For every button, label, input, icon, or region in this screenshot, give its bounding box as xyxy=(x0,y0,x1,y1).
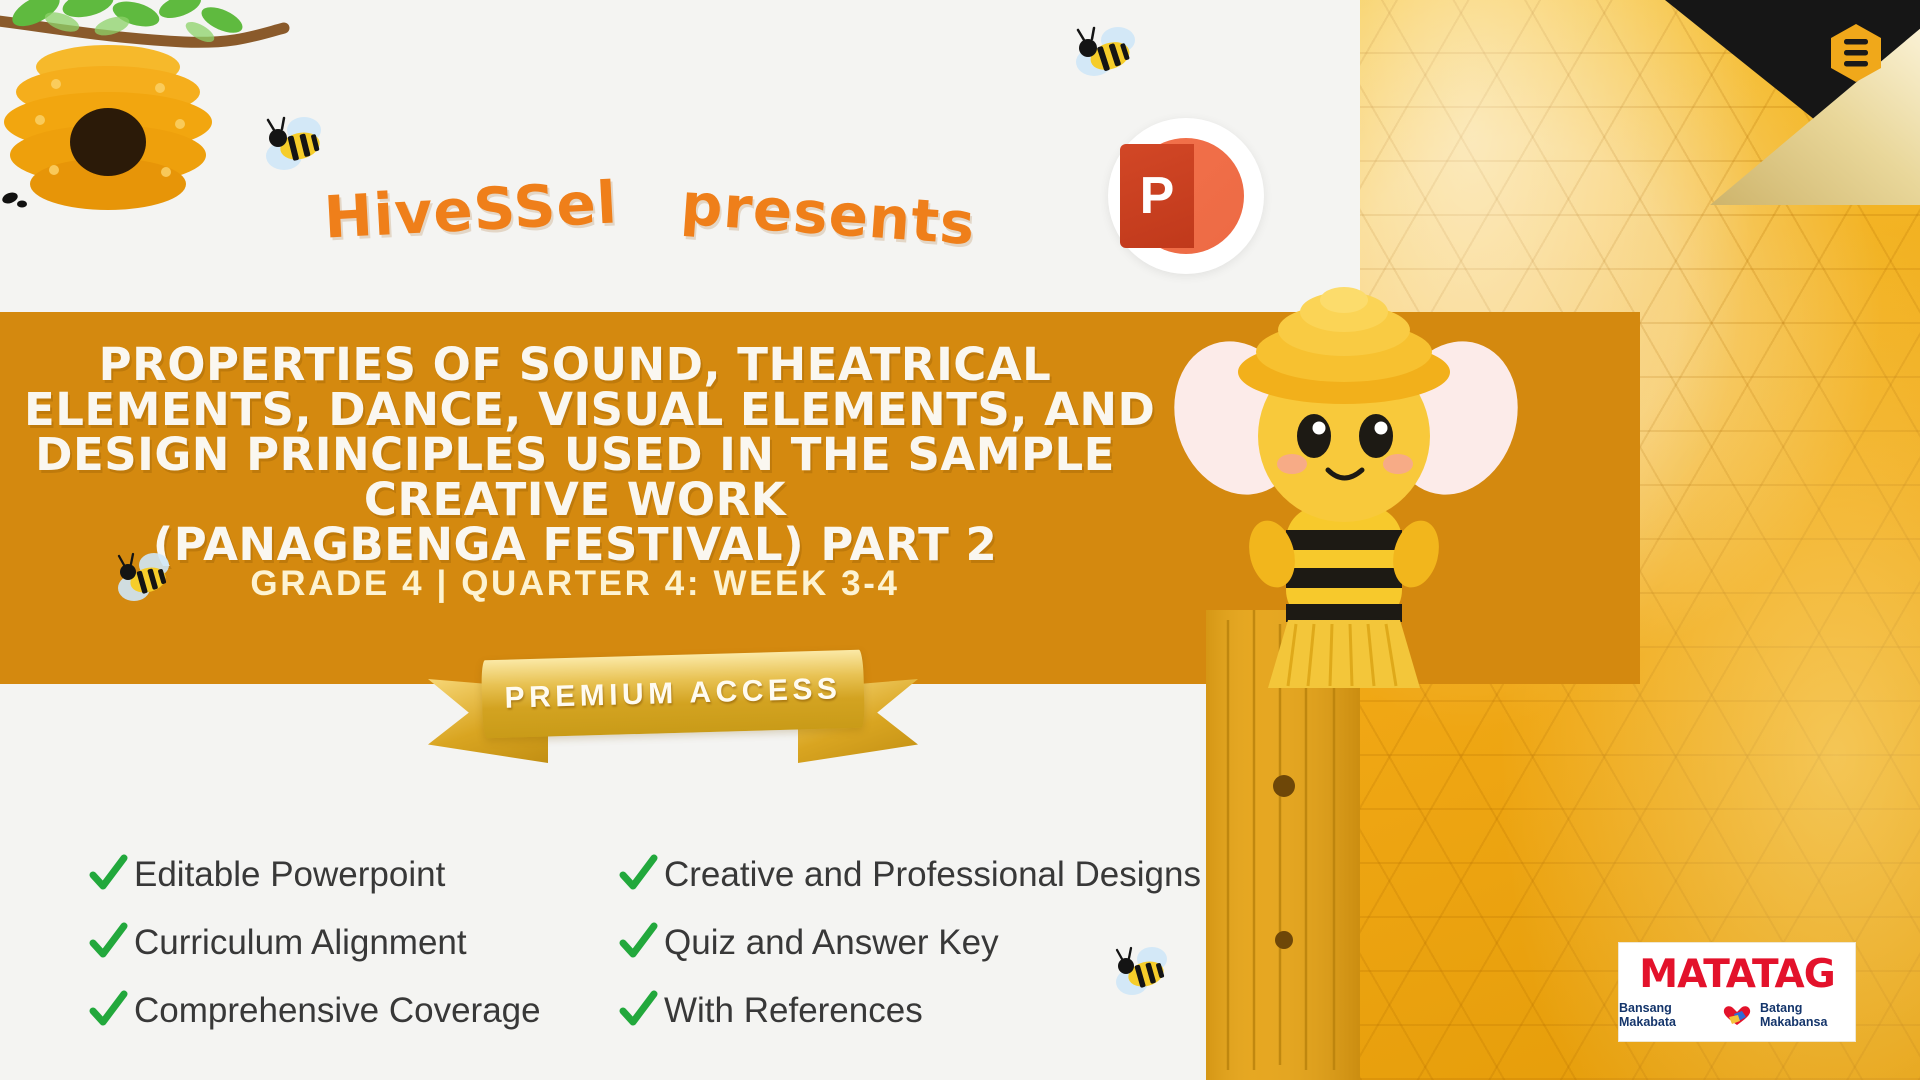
brand-word-hivessel: HiveSSel xyxy=(322,168,619,251)
brand-word-presents: presents xyxy=(679,170,978,258)
feature-item: Curriculum Alignment xyxy=(88,923,558,963)
title-line-2: ELEMENTS, DANCE, VISUAL ELEMENTS, AND xyxy=(24,387,1126,432)
ribbon-label: PREMIUM ACCESS xyxy=(481,650,865,739)
green-check-icon xyxy=(618,989,658,1029)
title-line-5: (PANAGBENGA FESTIVAL) PART 2 xyxy=(24,522,1126,567)
bee-icon xyxy=(1070,20,1142,84)
feature-item: Creative and Professional Designs xyxy=(618,855,1201,895)
feature-label: With References xyxy=(664,991,923,1031)
powerpoint-letter: P xyxy=(1120,144,1194,248)
premium-access-ribbon: PREMIUM ACCESS xyxy=(428,655,918,765)
green-check-icon xyxy=(88,989,128,1029)
powerpoint-icon: P xyxy=(1108,118,1264,274)
feature-item: Editable Powerpoint xyxy=(88,855,558,895)
brand-presents-line: HiveSSel presents xyxy=(0,178,1300,246)
matatag-tagline-left: Bansang Makabata xyxy=(1619,1001,1714,1029)
feature-checklist: Editable Powerpoint Curriculum Alignment… xyxy=(88,855,1268,1031)
feature-label: Creative and Professional Designs xyxy=(664,855,1201,895)
green-check-icon xyxy=(618,921,658,961)
matatag-tagline-right: Batang Makabansa xyxy=(1760,1001,1855,1029)
feature-label: Quiz and Answer Key xyxy=(664,923,999,963)
page-title: PROPERTIES OF SOUND, THEATRICAL ELEMENTS… xyxy=(0,342,1150,567)
matatag-logo: MATATAG Bansang Makabata Batang Makabans… xyxy=(1618,942,1856,1042)
feature-column-left: Editable Powerpoint Curriculum Alignment… xyxy=(88,855,558,1031)
green-check-icon xyxy=(618,853,658,893)
bee-icon xyxy=(1108,942,1174,1000)
bee-icon xyxy=(110,548,176,606)
bee-mascot-icon xyxy=(1168,268,1518,688)
feature-label: Curriculum Alignment xyxy=(134,923,467,963)
title-line-1: PROPERTIES OF SOUND, THEATRICAL xyxy=(24,342,1126,387)
hexagon-brand-icon xyxy=(1828,22,1884,84)
green-check-icon xyxy=(88,921,128,961)
green-check-icon xyxy=(88,853,128,893)
heart-hands-icon xyxy=(1720,1003,1754,1027)
feature-label: Editable Powerpoint xyxy=(134,855,445,895)
matatag-wordmark: MATATAG xyxy=(1619,952,1855,997)
title-line-3: DESIGN PRINCIPLES USED IN THE SAMPLE xyxy=(24,432,1126,477)
title-line-4: CREATIVE WORK xyxy=(24,477,1126,522)
bee-icon xyxy=(258,112,330,176)
matatag-tagline: Bansang Makabata Batang Makabansa xyxy=(1619,1001,1855,1029)
feature-item: Comprehensive Coverage xyxy=(88,991,558,1031)
feature-label: Comprehensive Coverage xyxy=(134,991,541,1031)
